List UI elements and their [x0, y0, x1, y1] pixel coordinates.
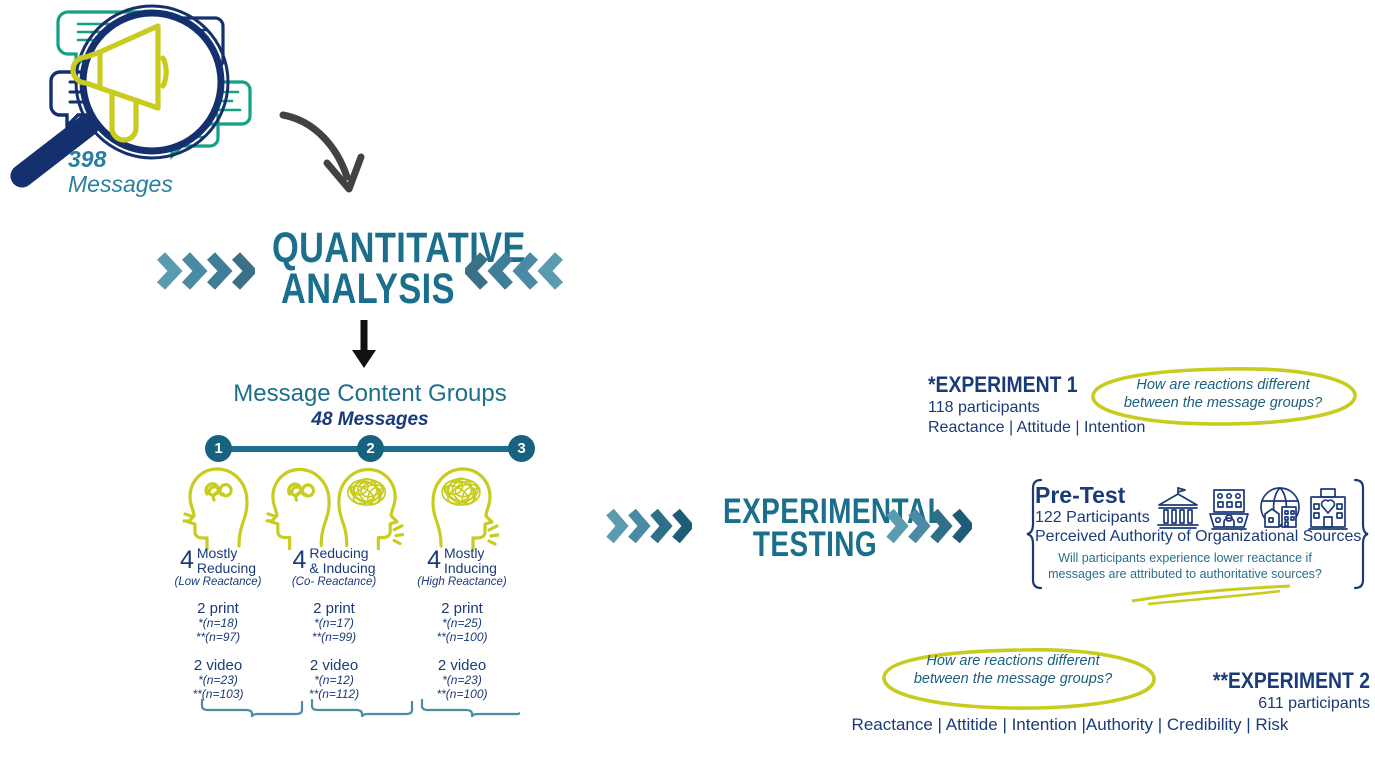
yellow-underline-icon	[1120, 582, 1300, 617]
group-2-paren: (Co- Reactance)	[264, 576, 404, 588]
magnifier-block: 398 Messages	[0, 0, 300, 215]
bubble-2-line1: How are reactions different	[888, 652, 1138, 670]
exper-title-line1: EXPERIMENTAL	[723, 495, 907, 528]
chevrons-left-icon	[465, 248, 565, 299]
timeline-node-3[interactable]: 3	[508, 435, 535, 462]
agitated-head-icon	[425, 464, 499, 550]
chevrons-right-icon	[604, 505, 692, 552]
group-1-label-line1: Mostly	[197, 546, 256, 561]
question-bubble-2-text: How are reactions different between the …	[888, 652, 1138, 688]
group-1-label-line2: Reducing	[197, 561, 256, 576]
quant-title-line1: QUANTITATIVE	[272, 228, 464, 269]
group-2-video-n1: *(n=12)	[264, 674, 404, 688]
timeline-node-2[interactable]: 2	[357, 435, 384, 462]
curved-arrow-icon	[275, 105, 385, 205]
infographic-canvas: 398 Messages QUANTITATIVE ANALYSIS	[0, 0, 1375, 757]
group-2-video: 2 video *(n=12) **(n=112)	[264, 657, 404, 702]
group-3-label: 4 Mostly Inducing	[392, 546, 532, 575]
exper-title-line2: TESTING	[723, 528, 907, 561]
group-2-video-label: 2 video	[264, 657, 404, 674]
group-3-video: 2 video *(n=23) **(n=100)	[392, 657, 532, 702]
group-3-video-label: 2 video	[392, 657, 532, 674]
group-3-label-line1: Mostly	[444, 546, 497, 561]
pretest-question-line1: Will participants experience lower react…	[1035, 550, 1335, 566]
group-2-label-line1: Reducing	[309, 546, 375, 561]
message-group-3: 4 Mostly Inducing (High Reactance) 2 pri…	[392, 466, 532, 702]
group-3-print-n2: **(n=100)	[392, 631, 532, 645]
experiment-2-measures: Reactance | Attitide | Intention |Author…	[820, 715, 1320, 735]
bubble-1-line1: How are reactions different	[1098, 376, 1348, 394]
group-3-heads	[392, 466, 532, 550]
timeline: 1 2 3	[205, 435, 535, 463]
message-groups-subtitle: 48 Messages	[170, 409, 570, 431]
bubble-2-line2: between the message groups?	[888, 670, 1138, 688]
group-3-print-n1: *(n=25)	[392, 617, 532, 631]
group-3-count: 4	[427, 548, 441, 573]
arrow-down-icon	[348, 318, 380, 375]
chevrons-right-icon	[155, 248, 255, 299]
group-2-heads	[264, 466, 404, 550]
quantitative-analysis-title: QUANTITATIVE ANALYSIS	[272, 228, 464, 310]
experiment-2-block: **EXPERIMENT 2 611 participants	[1120, 668, 1370, 714]
experiment-2-heading: **EXPERIMENT 2	[1150, 668, 1370, 694]
group-2-print-n2: **(n=99)	[264, 631, 404, 645]
group-3-video-n1: *(n=23)	[392, 674, 532, 688]
group-2-label-line2: & Inducing	[309, 561, 375, 576]
pretest-question: Will participants experience lower react…	[1035, 550, 1335, 583]
message-groups-title: Message Content Groups	[170, 380, 570, 408]
group-braces	[200, 698, 520, 725]
group-1-count: 4	[180, 548, 194, 573]
group-3-paren: (High Reactance)	[392, 576, 532, 588]
messages-count: 398	[68, 148, 106, 171]
organizational-source-icons	[1155, 485, 1350, 535]
pretest-question-line2: messages are attributed to authoritative…	[1035, 566, 1335, 582]
group-2-count: 4	[292, 548, 306, 573]
group-3-label-line2: Inducing	[444, 561, 497, 576]
quant-title-line2: ANALYSIS	[272, 269, 464, 310]
messages-label: Messages	[68, 172, 173, 196]
chevrons-right-icon	[884, 505, 972, 552]
question-bubble-1-text: How are reactions different between the …	[1098, 376, 1348, 412]
group-3-print: 2 print *(n=25) **(n=100)	[392, 600, 532, 645]
group-2-print-n1: *(n=17)	[264, 617, 404, 631]
calm-head-icon	[181, 464, 255, 550]
group-2-print-label: 2 print	[264, 600, 404, 617]
bubble-1-line2: between the message groups?	[1098, 394, 1348, 412]
group-2-label: 4 Reducing & Inducing	[264, 546, 404, 575]
group-2-print: 2 print *(n=17) **(n=99)	[264, 600, 404, 645]
experiment-2-participants: 611 participants	[1120, 694, 1370, 714]
group-3-print-label: 2 print	[392, 600, 532, 617]
calm-head-icon	[264, 464, 337, 550]
experimental-testing-title: EXPERIMENTAL TESTING	[723, 495, 907, 562]
message-group-2: 4 Reducing & Inducing (Co- Reactance) 2 …	[264, 466, 404, 702]
timeline-node-1[interactable]: 1	[205, 435, 232, 462]
